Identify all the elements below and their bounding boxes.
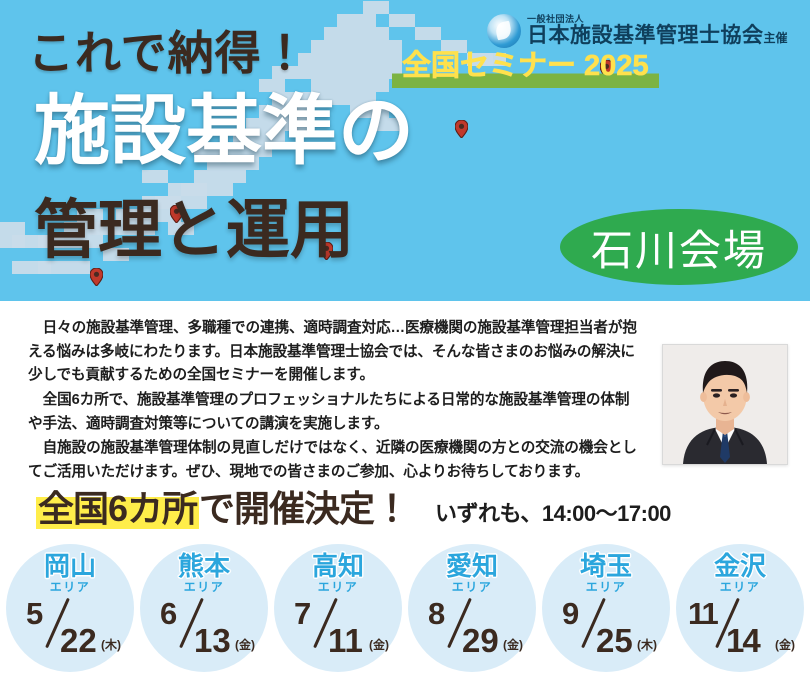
date-circle-city: 岡山 (6, 553, 134, 579)
date-circle-date: 522(木) (6, 596, 134, 666)
speaker-portrait-photo (662, 344, 788, 465)
announcement-headline: 全国6カ所で開催決定！ (36, 491, 409, 527)
date-circle-day: 25 (596, 624, 633, 657)
date-circle-date: 829(金) (408, 596, 536, 666)
date-circle[interactable]: 埼玉エリア925(木) (542, 544, 670, 672)
date-circle[interactable]: 熊本エリア613(金) (140, 544, 268, 672)
body-section: 日々の施設基準管理、多職種での連携、適時調査対応…医療機関の施設基準管理担当者が… (0, 301, 810, 673)
date-circle-area-label: エリア (542, 581, 670, 593)
date-circle-city: 金沢 (676, 553, 804, 579)
organizer-name: 日本施設基準管理士協会 (527, 24, 764, 47)
date-circle[interactable]: 愛知エリア829(金) (408, 544, 536, 672)
date-circle-date: 925(木) (542, 596, 670, 666)
date-circle-area-label: エリア (408, 581, 536, 593)
date-circle-weekday: (木) (101, 639, 121, 651)
seminar-year-badge: 全国セミナー 2025 (392, 50, 659, 88)
date-circle-month: 9 (562, 598, 579, 629)
date-circle-date: 613(金) (140, 596, 268, 666)
date-circle-weekday: (金) (775, 639, 795, 651)
announcement-highlight: 全国6カ所 (36, 488, 199, 529)
date-circle-area-label: エリア (274, 581, 402, 593)
date-circle-day: 14 (726, 624, 759, 657)
organizer-host-suffix: 主催 (764, 31, 788, 45)
date-circle-city: 高知 (274, 553, 402, 579)
date-circle-month: 6 (160, 598, 177, 629)
date-circle-city: 埼玉 (542, 553, 670, 579)
date-circle-area-label: エリア (140, 581, 268, 593)
date-circle[interactable]: 金沢エリア1114(金) (676, 544, 804, 672)
announcement-rest: で開催決定！ (199, 488, 409, 529)
date-circle-day: 11 (328, 624, 363, 657)
date-circle-month: 8 (428, 598, 445, 629)
date-circle-day: 29 (462, 624, 499, 657)
date-circle-city: 愛知 (408, 553, 536, 579)
date-circle-area-label: エリア (676, 581, 804, 593)
date-circle-month: 11 (688, 598, 717, 629)
seminar-year-badge-label: 全国セミナー 2025 (402, 50, 649, 82)
date-circle-area-label: エリア (6, 581, 134, 593)
association-leaf-logo-icon (487, 14, 521, 48)
announcement-bar: 全国6カ所で開催決定！ いずれも、14:00〜17:00 (36, 491, 671, 528)
announcement-time: いずれも、14:00〜17:00 (435, 496, 671, 528)
intro-paragraphs: 日々の施設基準管理、多職種での連携、適時調査対応…医療機関の施設基準管理担当者が… (28, 317, 642, 485)
hero-banner: 一般社団法人 日本施設基準管理士協会主催 これで納得！ 全国セミナー 2025 … (0, 0, 810, 301)
date-circle[interactable]: 高知エリア711(金) (274, 544, 402, 672)
date-circle-weekday: (金) (503, 639, 523, 651)
date-circle-weekday: (金) (235, 639, 255, 651)
date-circle-day: 22 (60, 624, 97, 657)
seminar-poster: 一般社団法人 日本施設基準管理士協会主催 これで納得！ 全国セミナー 2025 … (0, 0, 810, 673)
intro-paragraph: 自施設の施設基準管理体制の見直しだけではなく、近隣の医療機関の方との交流の機会と… (28, 437, 642, 484)
hero-title-line1: 施設基準の (34, 94, 414, 170)
date-circle-date: 1114(金) (676, 596, 804, 666)
portrait-illustration (663, 345, 787, 464)
hero-kicker: これで納得！ (28, 30, 309, 76)
organizer-logo: 一般社団法人 日本施設基準管理士協会主催 (487, 14, 788, 48)
date-circle[interactable]: 岡山エリア522(木) (6, 544, 134, 672)
date-circle-city: 熊本 (140, 553, 268, 579)
date-circle-weekday: (金) (369, 639, 389, 651)
venue-badge: 石川会場 (560, 209, 798, 285)
date-circle-list: 岡山エリア522(木)熊本エリア613(金)高知エリア711(金)愛知エリア82… (0, 544, 810, 673)
venue-badge-label: 石川会場 (591, 217, 767, 278)
date-circle-weekday: (木) (637, 639, 657, 651)
date-circle-day: 13 (194, 624, 231, 657)
date-circle-date: 711(金) (274, 596, 402, 666)
date-circle-month: 7 (294, 598, 311, 629)
hero-title-line2: 管理と運用 (34, 198, 354, 262)
intro-paragraph: 日々の施設基準管理、多職種での連携、適時調査対応…医療機関の施設基準管理担当者が… (28, 317, 642, 388)
date-circle-month: 5 (26, 598, 43, 629)
intro-paragraph: 全国6カ所で、施設基準管理のプロフェッショナルたちによる日常的な施設基準管理の体… (28, 389, 642, 436)
